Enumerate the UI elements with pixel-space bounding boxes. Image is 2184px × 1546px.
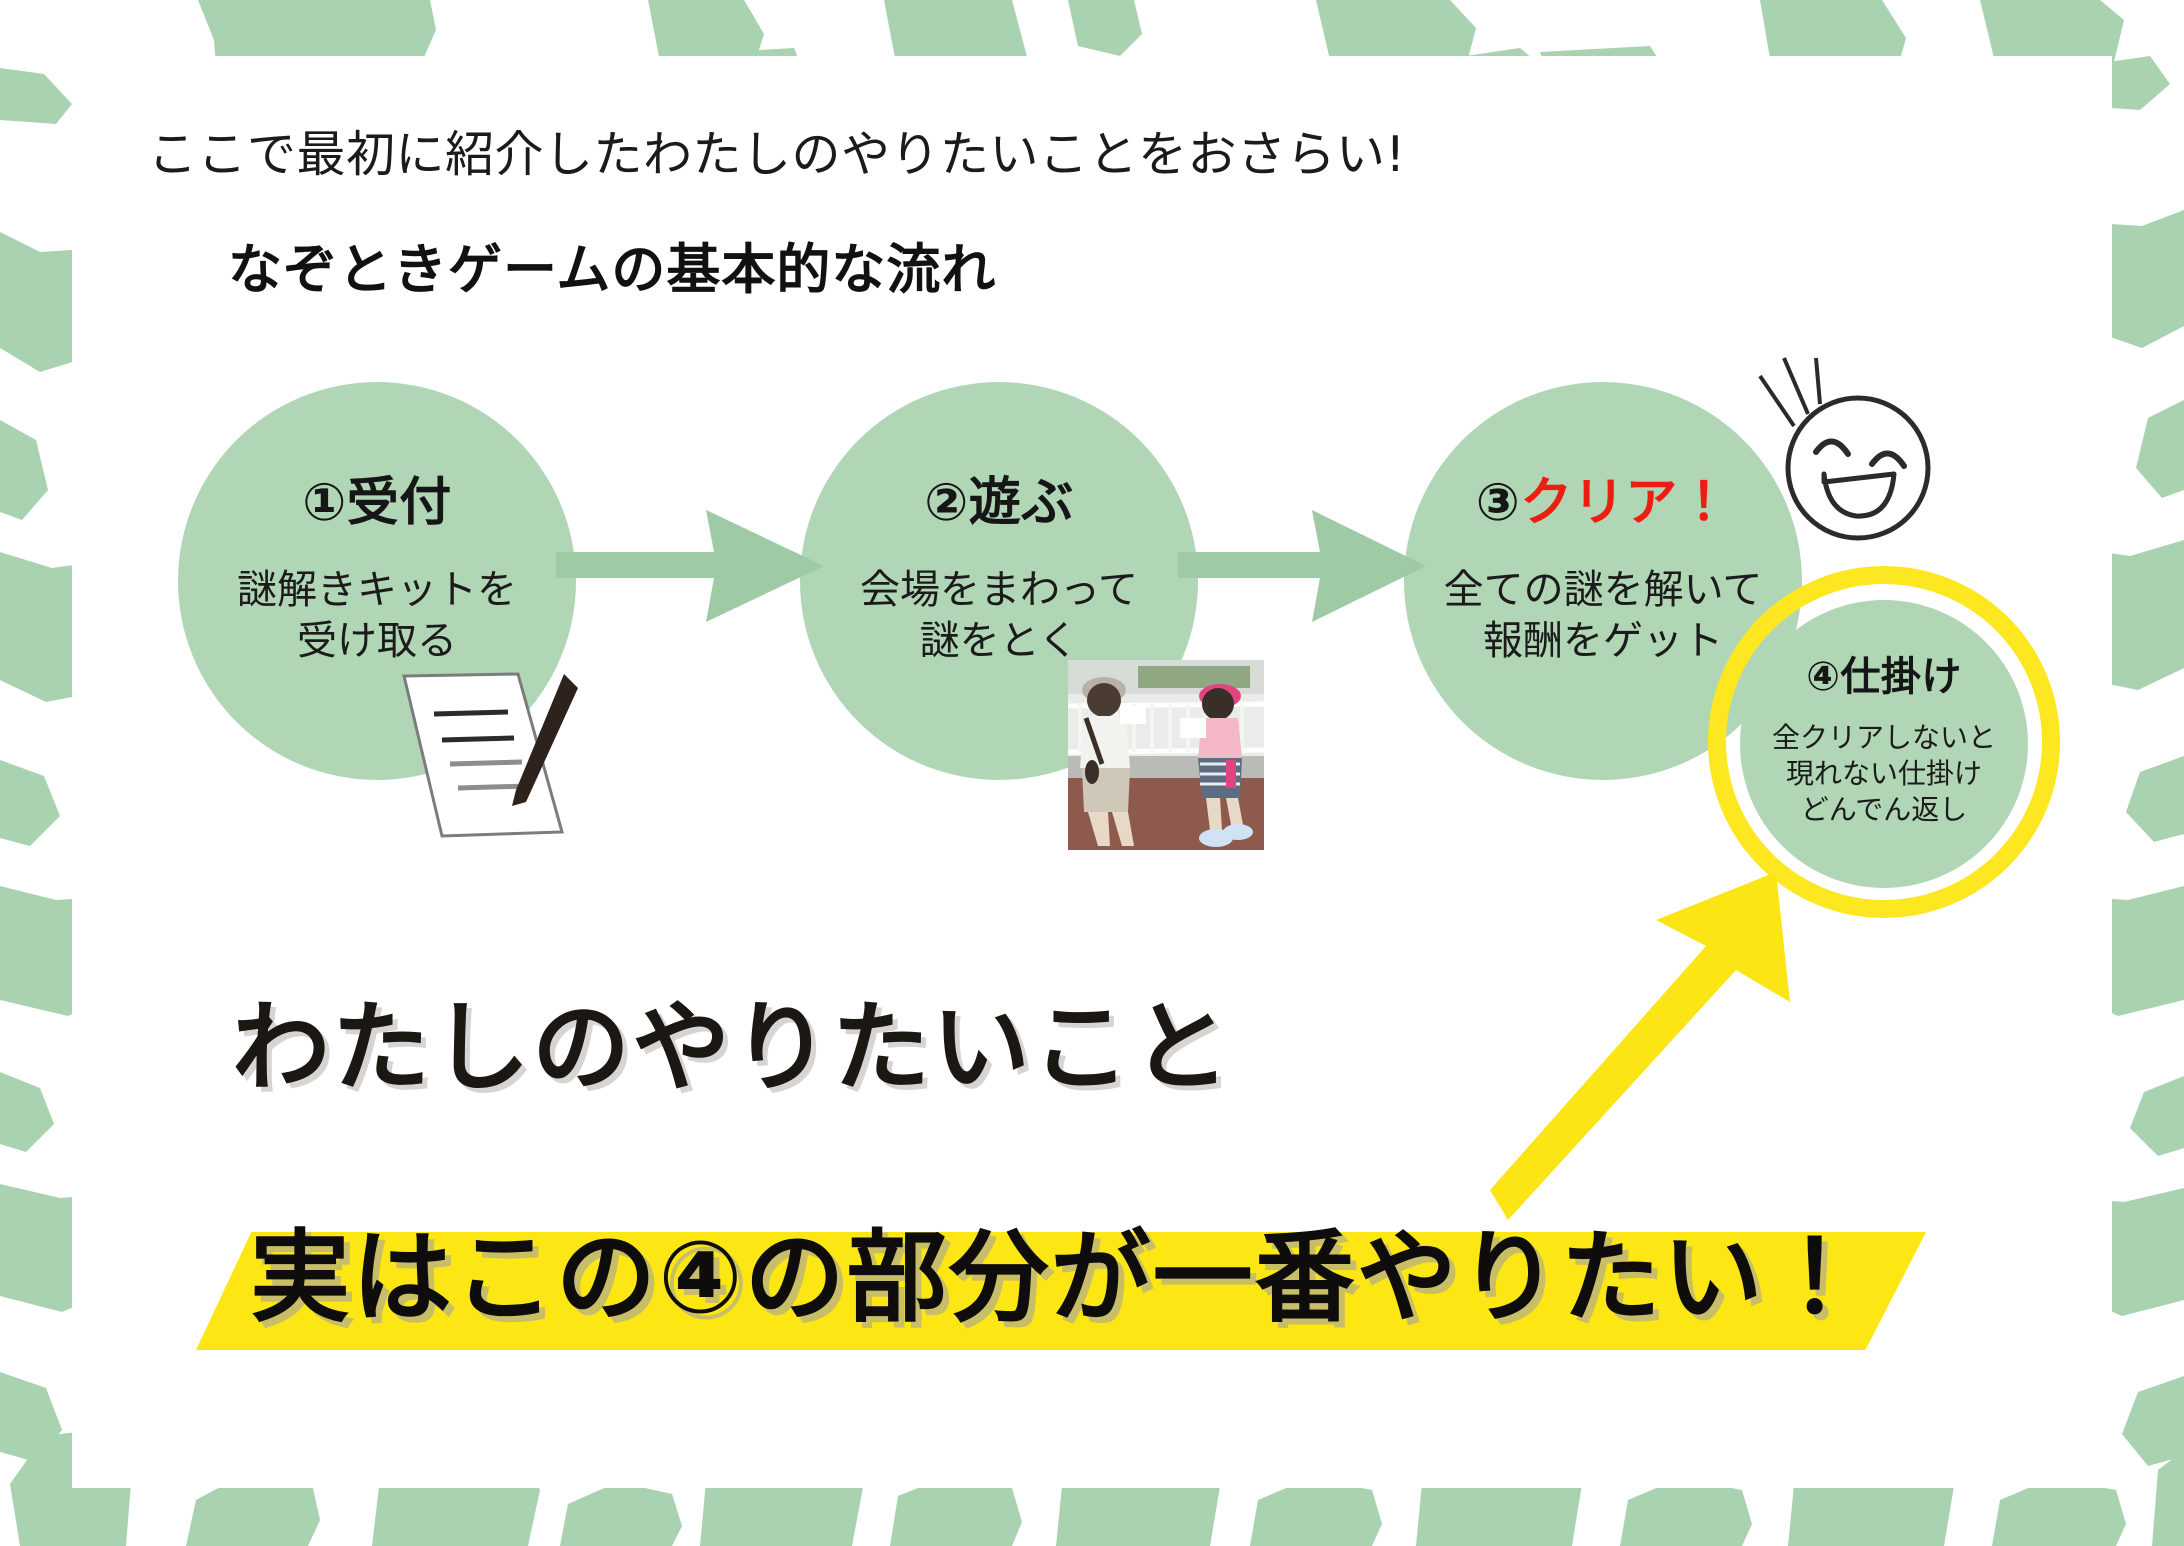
flow-step-4-body-line1: 全クリアしないと: [1772, 720, 1996, 756]
page-subheading: なぞときゲームの基本的な流れ: [228, 240, 996, 299]
flow-arrow-icon: [556, 500, 826, 630]
document-pen-icon: [386, 652, 586, 852]
flow-step-3-body-line2: 報酬をゲット: [1444, 616, 1763, 667]
flow-step-1-title: ①受付: [302, 460, 452, 535]
flow-step-1-body-line1: 謎解きキットを: [237, 565, 517, 616]
children-playing-photo: [1068, 660, 1264, 850]
page-kicker: ここで最初に紹介したわたしのやりたいことをおさらい!: [148, 128, 1406, 182]
conclusion-line: わたしのやりたいこと: [232, 968, 1232, 1110]
yellow-pointer-arrow-icon: [1490, 860, 1850, 1220]
flow-step-3-title: ③クリア！: [1476, 460, 1731, 535]
smiley-face-icon: [1746, 330, 1946, 550]
flow-step-2-body-line1: 会場をまわって: [860, 565, 1138, 616]
flow-step-3-body-line1: 全ての謎を解いて: [1444, 565, 1763, 616]
flow-step-3-body: 全ての謎を解いて 報酬をゲット: [1444, 565, 1763, 667]
flow-step-3-accent-text: クリア！: [1520, 473, 1730, 533]
flow-arrow-icon: [1178, 500, 1428, 630]
slide-canvas: ここで最初に紹介したわたしのやりたいことをおさらい! なぞときゲームの基本的な流…: [0, 0, 2184, 1546]
flow-step-4-body-line3: どんでん返し: [1772, 792, 1996, 828]
flow-step-4-body: 全クリアしないと 現れない仕掛け どんでん返し: [1772, 720, 1996, 827]
flow-step-2-title: ②遊ぶ: [924, 460, 1074, 535]
flow-step-2-body: 会場をまわって 謎をとく: [860, 565, 1138, 667]
flow-step-4-circle[interactable]: ④仕掛け 全クリアしないと 現れない仕掛け どんでん返し: [1740, 600, 2028, 888]
flow-step-4-title: ④仕掛け: [1806, 644, 1962, 702]
banner-text: 実はこの④の部分が一番やりたい！: [250, 1196, 1867, 1341]
flow-step-4-body-line2: 現れない仕掛け: [1772, 756, 1996, 792]
flow-step-3-number: ③: [1476, 473, 1521, 533]
